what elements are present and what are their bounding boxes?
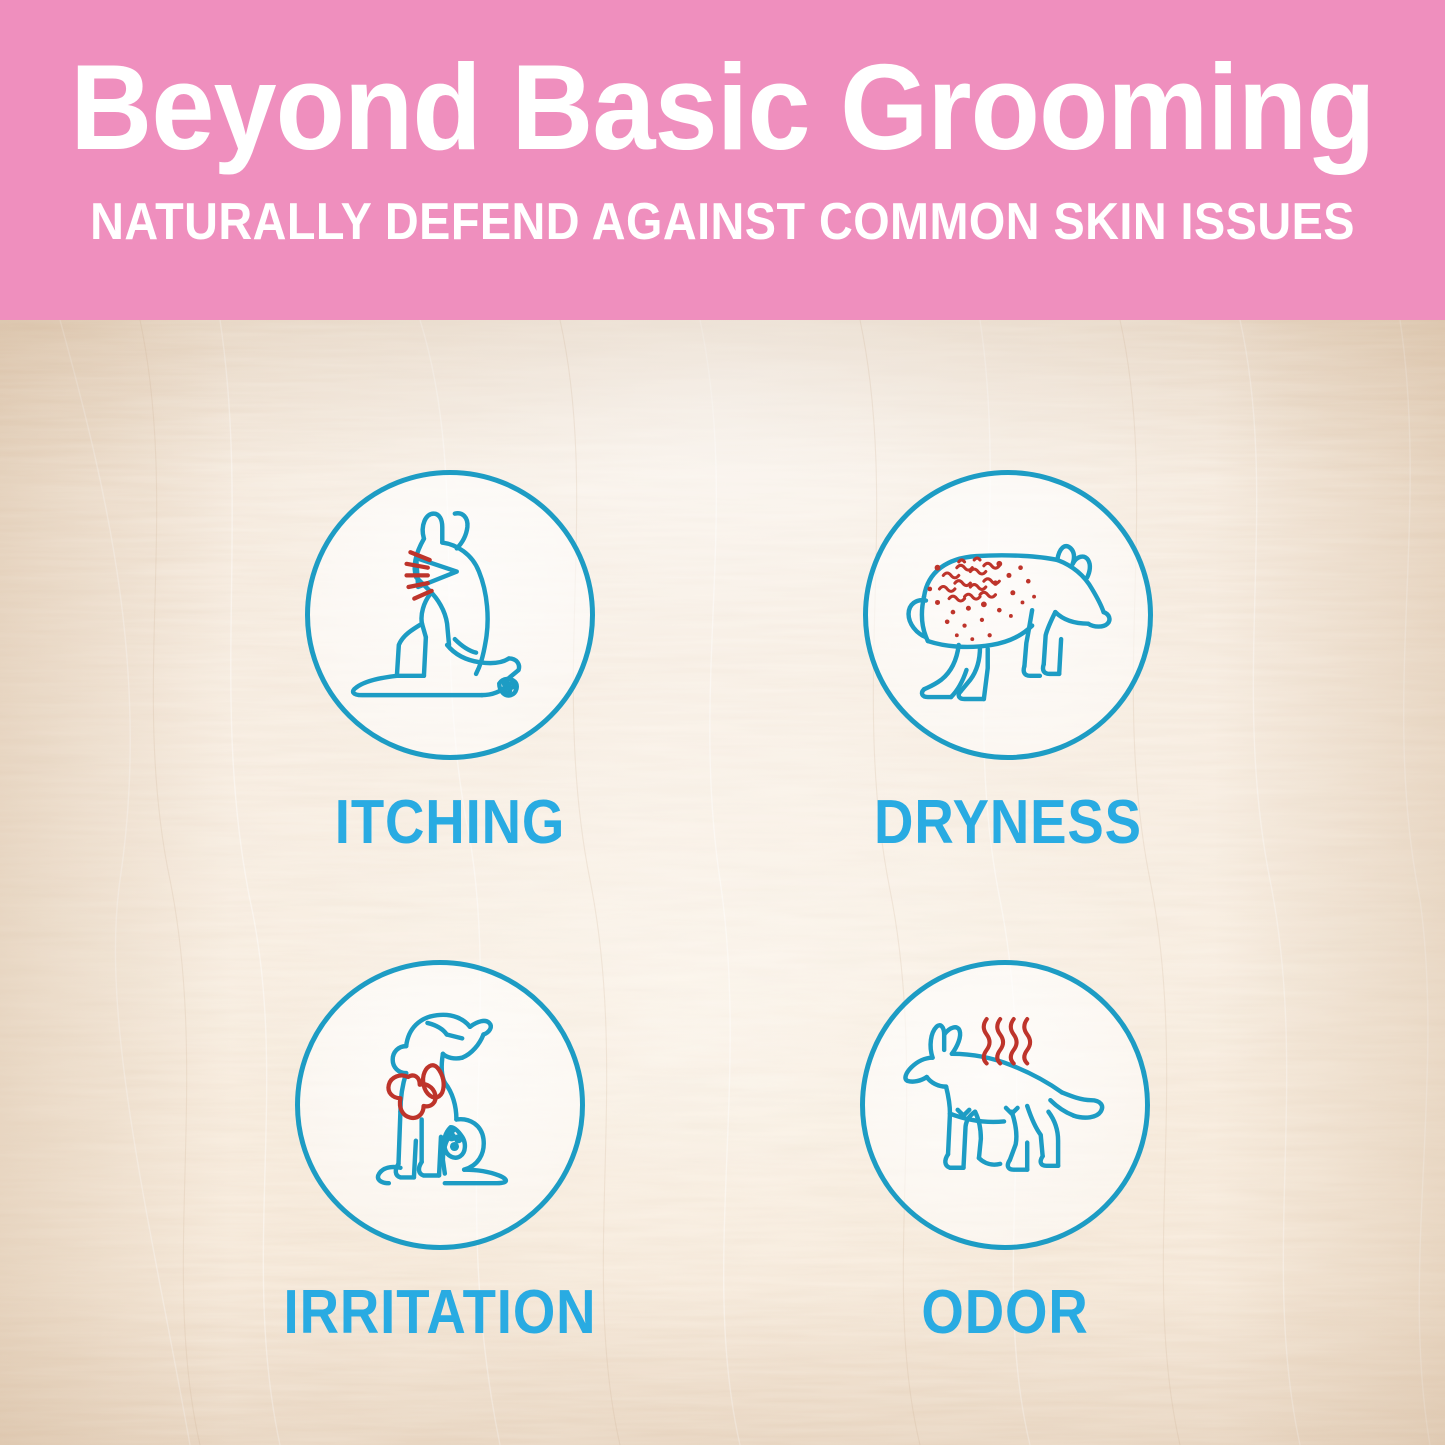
- header-band: Beyond Basic Grooming NATURALLY DEFEND A…: [0, 0, 1445, 320]
- feature-label-dryness: DRYNESS: [823, 792, 1193, 854]
- feature-label-odor: ODOR: [820, 1282, 1190, 1344]
- page-subtitle: NATURALLY DEFEND AGAINST COMMON SKIN ISS…: [72, 196, 1373, 248]
- dog-scratching-icon: [310, 475, 590, 755]
- feature-odor[interactable]: ODOR: [795, 960, 1215, 1344]
- skin-issues-grid: ITCHING: [0, 320, 1445, 1445]
- odor-circle: [860, 960, 1150, 1250]
- irritation-circle: [295, 960, 585, 1250]
- dog-irritated-skin-icon: [300, 965, 580, 1245]
- dryness-circle: [863, 470, 1153, 760]
- product-infographic-poster: Beyond Basic Grooming NATURALLY DEFEND A…: [0, 0, 1445, 1445]
- feature-dryness[interactable]: DRYNESS: [798, 470, 1218, 854]
- dog-dry-flaky-skin-icon: [868, 475, 1148, 755]
- itching-circle: [305, 470, 595, 760]
- feature-label-itching: ITCHING: [265, 792, 635, 854]
- page-title: Beyond Basic Grooming: [51, 46, 1395, 168]
- feature-irritation[interactable]: IRRITATION: [230, 960, 650, 1344]
- irritation-patch-red: [388, 1065, 443, 1118]
- dog-odor-icon: [865, 965, 1145, 1245]
- feature-itching[interactable]: ITCHING: [240, 470, 660, 854]
- feature-label-irritation: IRRITATION: [255, 1282, 625, 1344]
